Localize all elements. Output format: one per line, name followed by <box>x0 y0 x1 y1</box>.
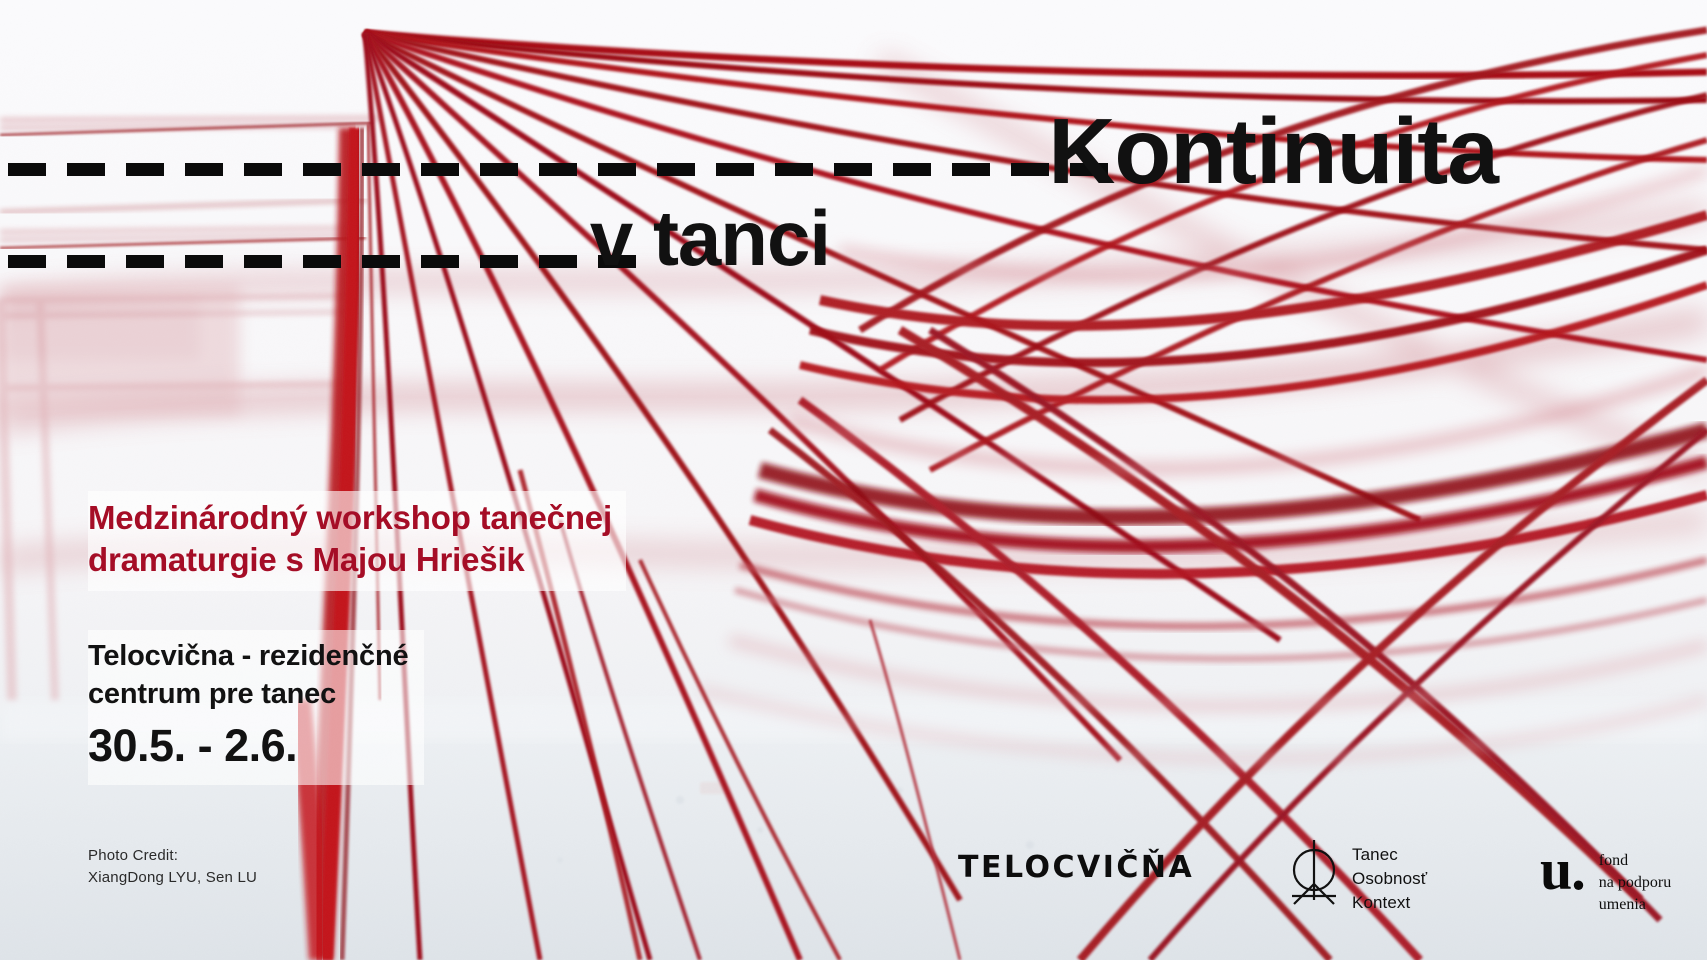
fpu-text: fond na podporu umenia <box>1599 842 1671 915</box>
headline-line-2: v tanci <box>0 203 1498 275</box>
tanec-osobnost-kontext-text: Tanec Osobnosť Kontext <box>1352 840 1427 915</box>
photo-credit: Photo Credit: XiangDong LYU, Sen LU <box>88 845 257 889</box>
venue-line-2: centrum pre tanec <box>88 676 408 714</box>
photo-credit-label: Photo Credit: <box>88 845 257 867</box>
fpu-line-2: na podporu <box>1599 872 1671 894</box>
venue-and-date-block: Telocvična - rezidenčné centrum pre tane… <box>88 630 424 785</box>
page-title: Kontinuita v tanci <box>0 109 1498 274</box>
photo-credit-names: XiangDong LYU, Sen LU <box>88 867 257 889</box>
telocvicna-wordmark: TELOCVIČŇA <box>958 850 1194 885</box>
event-dates: 30.5. - 2.6. <box>88 719 408 773</box>
tok-line-3: Kontext <box>1352 891 1427 915</box>
tok-line-1: Tanec <box>1352 843 1427 867</box>
fpu-u-mark: u. <box>1540 842 1585 897</box>
telocvicna-logo[interactable]: TELOCVIČŇA <box>958 850 1194 885</box>
tanec-osobnost-kontext-logo[interactable]: Tanec Osobnosť Kontext <box>1288 840 1427 915</box>
circle-line-mark-icon <box>1288 840 1340 915</box>
venue-line-1: Telocvična - rezidenčné <box>88 638 408 676</box>
workshop-line-2: dramaturgie s Majou Hriešik <box>88 539 612 581</box>
poster-canvas: Kontinuita v tanci Medzinárodný workshop… <box>0 0 1707 960</box>
fond-na-podporu-umenia-logo[interactable]: u. fond na podporu umenia <box>1540 842 1671 915</box>
fpu-line-3: umenia <box>1599 894 1671 916</box>
headline-line-1: Kontinuita <box>0 109 1498 195</box>
workshop-line-1: Medzinárodný workshop tanečnej <box>88 497 612 539</box>
workshop-subtitle: Medzinárodný workshop tanečnej dramaturg… <box>88 491 626 591</box>
tok-line-2: Osobnosť <box>1352 867 1427 891</box>
fpu-line-1: fond <box>1599 850 1671 872</box>
